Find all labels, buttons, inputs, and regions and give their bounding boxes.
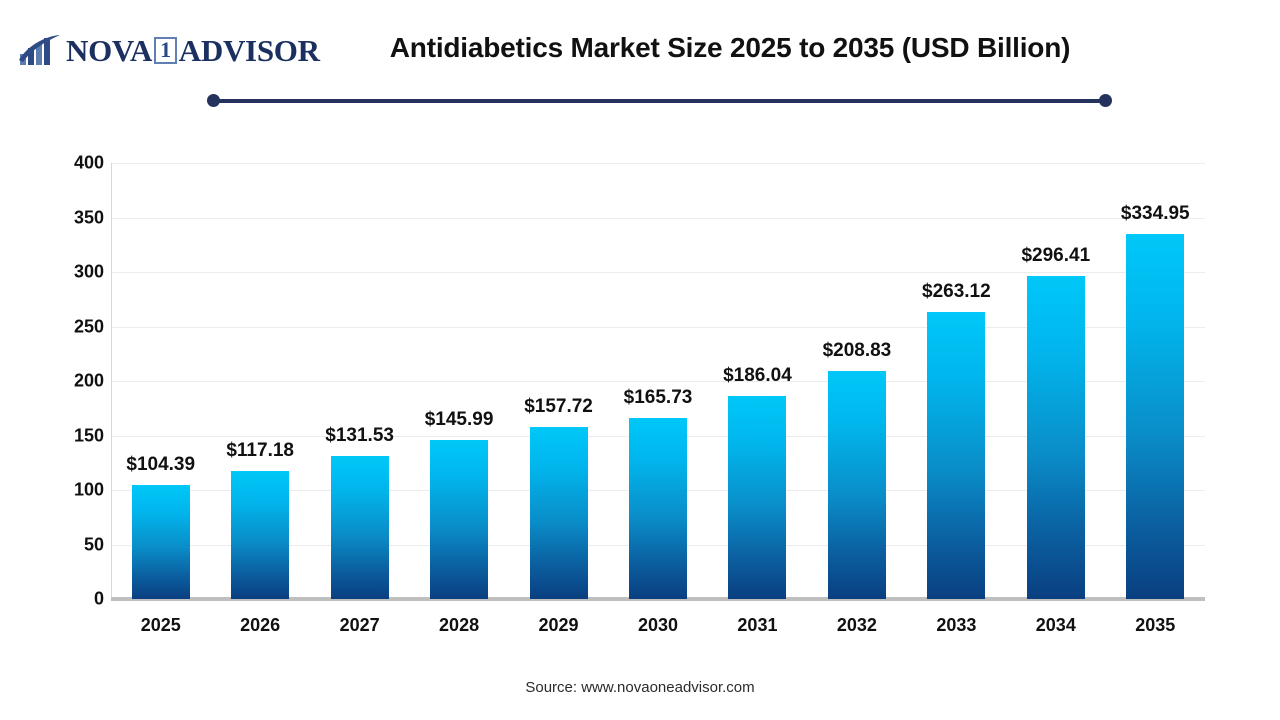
bar[interactable] <box>132 485 190 599</box>
bar-value-label: $263.12 <box>922 281 991 303</box>
y-tick-label: 250 <box>0 316 104 337</box>
bar-value-label: $165.73 <box>624 387 693 409</box>
x-tick-label: 2034 <box>1006 615 1105 636</box>
y-tick-label: 400 <box>0 153 104 174</box>
bar-group[interactable]: $117.18 <box>211 163 310 599</box>
x-tick-label: 2030 <box>609 615 708 636</box>
logo-wordmark: NOVA1ADVISOR <box>66 33 320 69</box>
y-axis: 050100150200250300350400 <box>0 0 104 720</box>
bars-layer: $104.39$117.18$131.53$145.99$157.72$165.… <box>111 163 1205 599</box>
bar-group[interactable]: $165.73 <box>609 163 708 599</box>
x-tick-label: 2031 <box>708 615 807 636</box>
bar-value-label: $334.95 <box>1121 203 1190 225</box>
divider-line <box>213 99 1106 103</box>
bar[interactable] <box>927 312 985 599</box>
bar-group[interactable]: $104.39 <box>111 163 210 599</box>
x-tick-label: 2027 <box>310 615 409 636</box>
x-axis: 2025202620272028202920302031203220332034… <box>111 615 1205 643</box>
x-tick-label: 2035 <box>1106 615 1205 636</box>
x-tick-label: 2028 <box>410 615 509 636</box>
bar-group[interactable]: $186.04 <box>708 163 807 599</box>
bar-value-label: $117.18 <box>226 440 294 462</box>
bar-value-label: $296.41 <box>1021 245 1090 267</box>
x-tick-label: 2032 <box>807 615 906 636</box>
x-tick-label: 2029 <box>509 615 608 636</box>
y-tick-label: 150 <box>0 425 104 446</box>
source-note: Source: www.novaoneadvisor.com <box>0 679 1280 696</box>
y-tick-label: 50 <box>0 534 104 555</box>
bar[interactable] <box>728 396 786 599</box>
x-tick-label: 2033 <box>907 615 1006 636</box>
title-divider <box>207 94 1112 108</box>
bar-value-label: $157.72 <box>524 396 593 418</box>
bar-group[interactable]: $208.83 <box>807 163 906 599</box>
bar[interactable] <box>530 427 588 599</box>
chart-title: Antidiabetics Market Size 2025 to 2035 (… <box>290 32 1170 64</box>
x-tick-label: 2025 <box>111 615 210 636</box>
y-tick-label: 300 <box>0 262 104 283</box>
bar-value-label: $186.04 <box>723 365 792 387</box>
bar-group[interactable]: $334.95 <box>1106 163 1205 599</box>
bar[interactable] <box>629 418 687 599</box>
y-tick-label: 0 <box>0 589 104 610</box>
bar-group[interactable]: $263.12 <box>907 163 1006 599</box>
bar-value-label: $131.53 <box>325 425 394 447</box>
y-tick-label: 350 <box>0 207 104 228</box>
bar[interactable] <box>430 440 488 599</box>
y-tick-label: 100 <box>0 480 104 501</box>
divider-dot-right <box>1099 94 1112 107</box>
bar-group[interactable]: $296.41 <box>1006 163 1105 599</box>
bar[interactable] <box>231 471 289 599</box>
chart-header: NOVA1ADVISOR Antidiabetics Market Size 2… <box>0 0 1280 88</box>
bar[interactable] <box>1126 234 1184 599</box>
x-tick-label: 2026 <box>211 615 310 636</box>
bar-value-label: $208.83 <box>823 340 892 362</box>
logo-boxed-one: 1 <box>154 37 177 64</box>
bar-group[interactable]: $145.99 <box>410 163 509 599</box>
y-tick-label: 200 <box>0 371 104 392</box>
bar-value-label: $145.99 <box>425 409 494 431</box>
bar-group[interactable]: $131.53 <box>310 163 409 599</box>
bar[interactable] <box>828 371 886 599</box>
bar[interactable] <box>1027 276 1085 599</box>
bar[interactable] <box>331 456 389 599</box>
bar-value-label: $104.39 <box>126 454 195 476</box>
bar-group[interactable]: $157.72 <box>509 163 608 599</box>
